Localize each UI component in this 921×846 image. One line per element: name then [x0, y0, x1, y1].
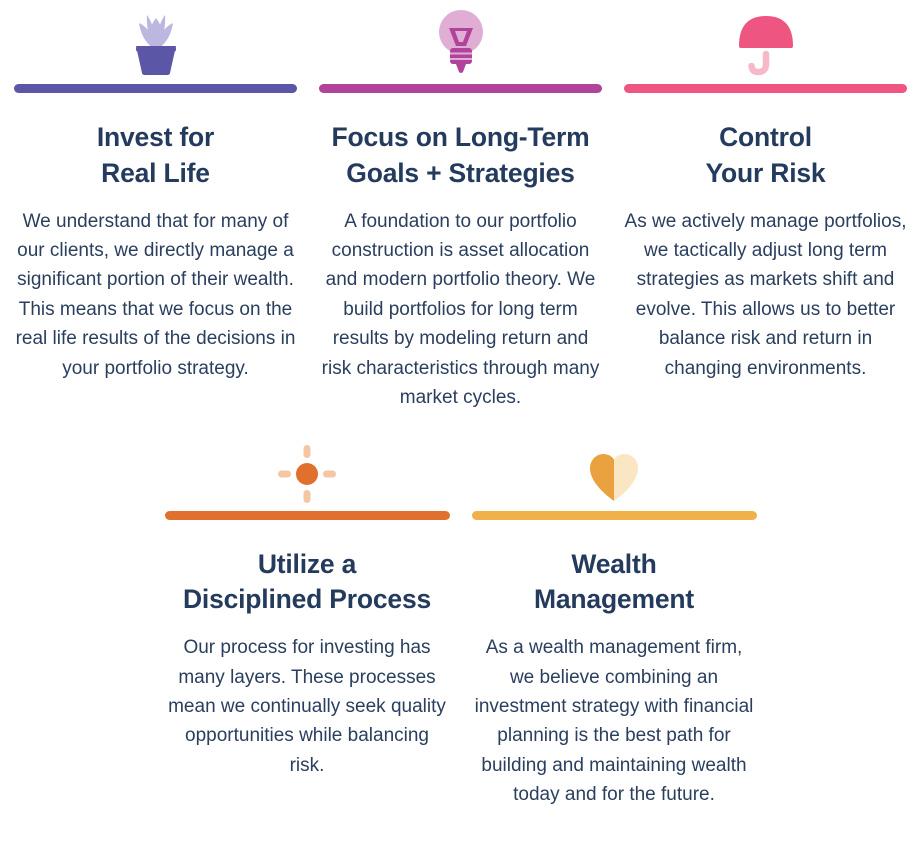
sun-target-icon: [165, 431, 450, 507]
accent-bar-orange: [165, 511, 450, 520]
light-bulb-icon: [319, 4, 602, 80]
card-title: Control Your Risk: [706, 93, 826, 192]
card-title: Invest for Real Life: [97, 93, 214, 192]
card-row-two: Utilize a Disciplined Process Our proces…: [0, 413, 921, 810]
card-wealth-management[interactable]: Wealth Management As a wealth management…: [472, 431, 757, 810]
philosophy-card-board: Invest for Real Life We understand that …: [0, 0, 921, 846]
accent-bar-amber: [472, 511, 757, 520]
card-title: Focus on Long-Term Goals + Strategies: [332, 93, 590, 192]
accent-bar-purple: [14, 84, 297, 93]
card-invest-for-real-life[interactable]: Invest for Real Life We understand that …: [14, 4, 297, 413]
card-body-text: As we actively manage portfolios, we tac…: [624, 192, 907, 384]
potted-plant-icon: [14, 4, 297, 80]
card-body-text: We understand that for many of our clien…: [14, 192, 297, 384]
accent-bar-pink: [624, 84, 907, 93]
card-body-text: Our process for investing has many layer…: [166, 618, 449, 780]
card-focus-on-long-term-goals[interactable]: Focus on Long-Term Goals + Strategies A …: [319, 4, 602, 413]
card-body-text: As a wealth management firm, we believe …: [473, 618, 756, 810]
card-control-your-risk[interactable]: Control Your Risk As we actively manage …: [624, 4, 907, 413]
card-title: Wealth Management: [534, 520, 694, 619]
card-utilize-a-disciplined-process[interactable]: Utilize a Disciplined Process Our proces…: [165, 431, 450, 810]
accent-bar-magenta: [319, 84, 602, 93]
card-title: Utilize a Disciplined Process: [183, 520, 431, 619]
umbrella-icon: [624, 4, 907, 80]
split-heart-icon: [472, 431, 757, 507]
card-body-text: A foundation to our portfolio constructi…: [319, 192, 602, 413]
card-row-one: Invest for Real Life We understand that …: [0, 0, 921, 413]
